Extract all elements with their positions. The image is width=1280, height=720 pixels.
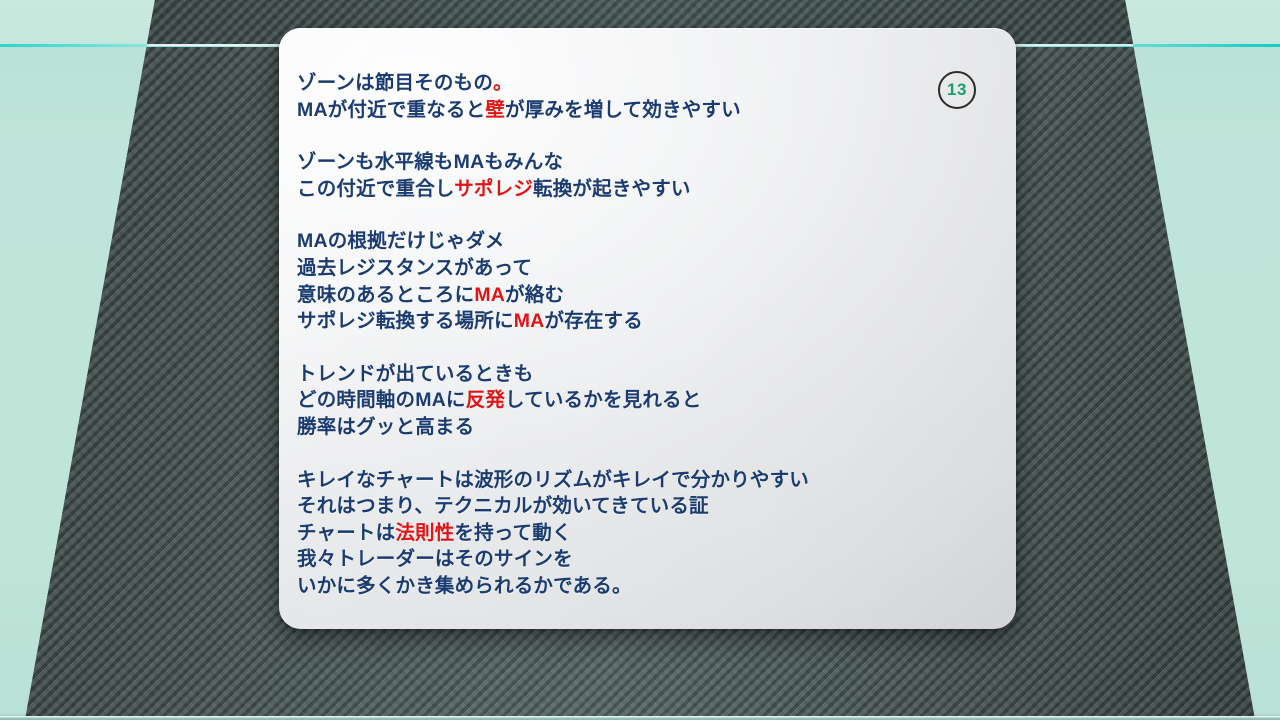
highlighted-text-run: 壁: [485, 99, 505, 121]
text-run: この付近で重合し: [297, 178, 454, 200]
text-run: 転換が起きやすい: [533, 178, 691, 200]
text-run: トレンドが出ているときも: [297, 363, 533, 385]
highlighted-text-run: 法則性: [395, 522, 454, 544]
slide-body-text: ゾーンは節目そのもの。MAが付近で重なると壁が厚みを増して効きやすいゾーンも水平…: [297, 70, 998, 600]
highlighted-text-run: サポレジ: [454, 178, 533, 200]
text-line: チャートは法則性を持って動く: [297, 520, 998, 547]
text-run: しているかを見れると: [505, 389, 701, 411]
text-line: どの時間軸のMAに反発しているかを見れると: [297, 387, 998, 414]
text-run: サポレジ転換する場所に: [297, 310, 514, 332]
text-run: が絡む: [505, 284, 564, 306]
text-run: 過去レジスタンスがあって: [297, 257, 532, 279]
bottom-accent-rule: [0, 716, 1280, 720]
text-run: いかに多くかき集められるかである。: [297, 575, 632, 597]
text-run: MAの根拠だけじゃダメ: [297, 230, 504, 252]
slide-stage: 13 ゾーンは節目そのもの。MAが付近で重なると壁が厚みを増して効きやすいゾーン…: [0, 0, 1280, 720]
text-run: 我々トレーダーはそのサインを: [297, 548, 573, 570]
text-line: ゾーンも水平線もMAもみんな: [297, 149, 998, 176]
text-line: 勝率はグッと高まる: [297, 414, 998, 441]
highlighted-text-run: MA: [514, 310, 545, 332]
text-line: 意味のあるところにMAが絡む: [297, 282, 998, 309]
text-run: MAが付近で重なると: [297, 99, 485, 121]
text-line: トレンドが出ているときも: [297, 361, 998, 388]
highlighted-text-run: MA: [474, 284, 505, 306]
text-run: キレイなチャートは波形のリズムがキレイで分かりやすい: [297, 469, 809, 491]
text-paragraph: MAの根拠だけじゃダメ過去レジスタンスがあって意味のあるところにMAが絡むサポレ…: [297, 228, 998, 334]
text-run: が存在する: [544, 310, 643, 332]
text-line: MAが付近で重なると壁が厚みを増して効きやすい: [297, 97, 998, 124]
text-line: MAの根拠だけじゃダメ: [297, 228, 998, 255]
text-line: ゾーンは節目そのもの。: [297, 70, 998, 97]
highlighted-text-run: 反発: [466, 389, 505, 411]
text-line: 過去レジスタンスがあって: [297, 255, 998, 282]
text-run: チャートは: [297, 522, 395, 544]
text-line: この付近で重合しサポレジ転換が起きやすい: [297, 176, 998, 203]
text-run: 意味のあるところに: [297, 284, 474, 306]
text-paragraph: ゾーンは節目そのもの。MAが付近で重なると壁が厚みを増して効きやすい: [297, 70, 998, 123]
text-paragraph: キレイなチャートは波形のリズムがキレイで分かりやすいそれはつまり、テクニカルが効…: [297, 467, 998, 600]
content-card: 13 ゾーンは節目そのもの。MAが付近で重なると壁が厚みを増して効きやすいゾーン…: [279, 28, 1016, 629]
text-line: キレイなチャートは波形のリズムがキレイで分かりやすい: [297, 467, 998, 494]
highlighted-text-run: 。: [493, 72, 513, 94]
text-run: を持って動く: [454, 522, 571, 544]
text-paragraph: ゾーンも水平線もMAもみんなこの付近で重合しサポレジ転換が起きやすい: [297, 149, 998, 202]
text-line: 我々トレーダーはそのサインを: [297, 546, 998, 573]
text-run: ゾーンも水平線もMAもみんな: [297, 151, 563, 173]
text-run: が厚みを増して効きやすい: [505, 99, 741, 121]
text-run: ゾーンは節目そのもの: [297, 72, 493, 94]
text-run: それはつまり、テクニカルが効いてきている証: [297, 495, 709, 517]
text-paragraph: トレンドが出ているときもどの時間軸のMAに反発しているかを見れると勝率はグッと高…: [297, 361, 998, 441]
text-run: 勝率はグッと高まる: [297, 416, 474, 438]
text-line: いかに多くかき集められるかである。: [297, 573, 998, 600]
text-line: それはつまり、テクニカルが効いてきている証: [297, 493, 998, 520]
text-line: サポレジ転換する場所にMAが存在する: [297, 308, 998, 335]
page-number-badge: 13: [938, 71, 976, 109]
text-run: どの時間軸のMAに: [297, 389, 466, 411]
